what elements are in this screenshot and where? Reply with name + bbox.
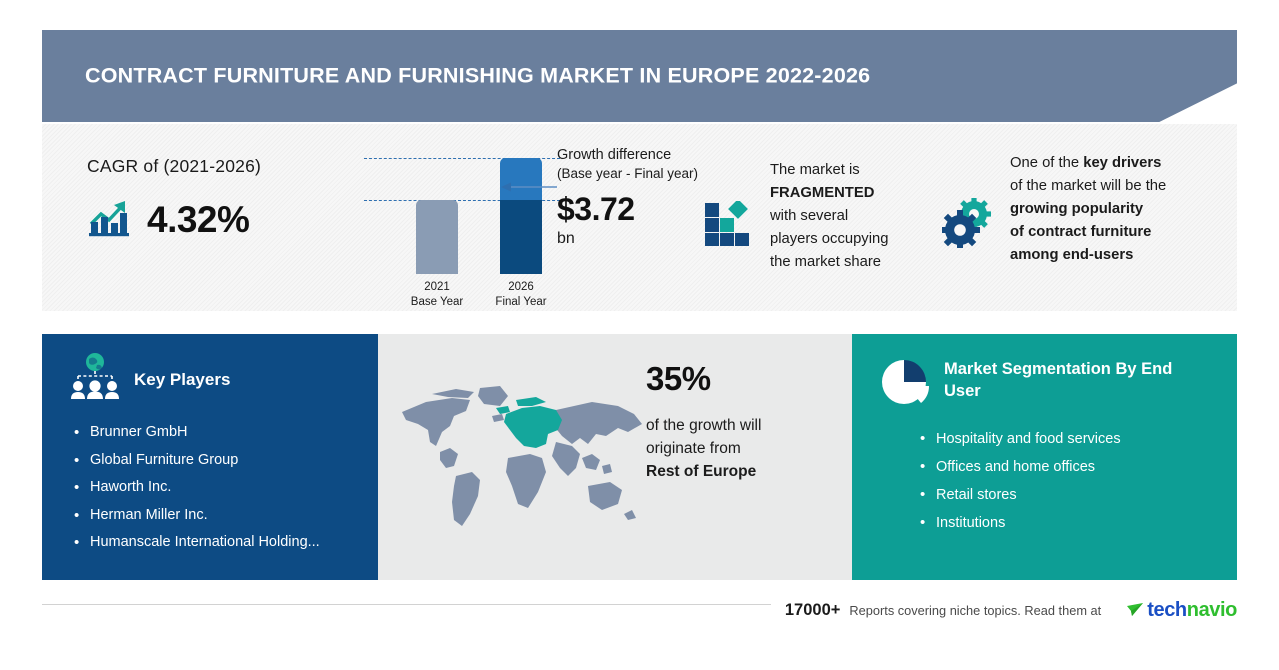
- region-growth-panel: 35% of the growth will originate from Re…: [378, 334, 852, 580]
- market-segmentation-panel: Market Segmentation By End User Hospital…: [852, 334, 1237, 580]
- list-item: Offices and home offices: [936, 453, 1237, 481]
- bar-2021-base-year: [416, 200, 458, 274]
- key-players-panel: Key Players Brunner GmbH Global Furnitur…: [42, 334, 378, 580]
- region-growth-text: 35% of the growth will originate from Re…: [646, 360, 836, 483]
- header-banner: CONTRACT FURNITURE AND FURNISHING MARKET…: [42, 30, 1237, 122]
- market-fragmentation-block: The market is FRAGMENTED with several pl…: [704, 159, 945, 274]
- bar-2026-final-year-growth: [500, 158, 542, 200]
- globe-network-people-icon: [68, 352, 122, 407]
- logo-text-tech: tech: [1147, 599, 1187, 621]
- drivers-line-1-bold: key drivers: [1083, 155, 1161, 171]
- key-drivers-block: One of the key drivers of the market wil…: [942, 152, 1223, 267]
- growth-bar-chart: 2021 Base Year 2026 Final Year: [364, 144, 564, 304]
- callout-arrow-icon: [501, 182, 557, 192]
- drivers-line-1: One of the: [1010, 155, 1083, 171]
- reports-count: 17000+: [785, 601, 841, 620]
- region-growth-description: of the growth will originate from Rest o…: [646, 414, 836, 483]
- region-growth-percent: 35%: [646, 360, 836, 398]
- footer-tagline: Reports covering niche topics. Read them…: [849, 603, 1101, 618]
- segmentation-list: Hospitality and food services Offices an…: [852, 425, 1237, 537]
- paper-plane-icon: [1126, 601, 1144, 619]
- drivers-line-3: growing popularity: [1010, 201, 1143, 217]
- technavio-logo[interactable]: technavio: [1126, 599, 1237, 622]
- bar-2026-final-year-base: [500, 200, 542, 274]
- fragmentation-text: The market is FRAGMENTED with several pl…: [770, 159, 945, 274]
- key-drivers-text: One of the key drivers of the market wil…: [1010, 152, 1223, 267]
- list-item: Retail stores: [936, 481, 1237, 509]
- region-desc-line-2: originate from: [646, 440, 741, 457]
- cagr-label: CAGR of (2021-2026): [87, 156, 377, 177]
- segmentation-title: Market Segmentation By End User: [944, 358, 1184, 402]
- footer: 17000+ Reports covering niche topics. Re…: [0, 592, 1279, 642]
- list-item: Brunner GmbH: [90, 419, 378, 447]
- frag-line-1: The market is: [770, 162, 860, 178]
- gears-icon: [942, 198, 998, 267]
- logo-text-navio: navio: [1187, 599, 1237, 621]
- squares-fragmented-icon: [704, 201, 756, 274]
- world-map-icon: [396, 380, 654, 532]
- drivers-line-4: of contract furniture: [1010, 224, 1151, 240]
- key-players-title: Key Players: [134, 370, 230, 390]
- list-item: Haworth Inc.: [90, 474, 378, 502]
- list-item: Institutions: [936, 509, 1237, 537]
- frag-line-4: players occupying: [770, 231, 888, 247]
- list-item: Hospitality and food services: [936, 425, 1237, 453]
- frag-line-2: FRAGMENTED: [770, 185, 874, 201]
- bar-label-2021: 2021 Base Year: [392, 280, 482, 309]
- region-desc-line-1: of the growth will: [646, 417, 761, 434]
- drivers-line-2: of the market will be the: [1010, 178, 1166, 194]
- pie-chart-icon: [880, 358, 930, 413]
- list-item: Global Furniture Group: [90, 447, 378, 475]
- top-highlights-strip: CAGR of (2021-2026) 4.32%: [42, 124, 1237, 311]
- bar-chart-growth-icon: [87, 197, 133, 242]
- infographic-canvas: CONTRACT FURNITURE AND FURNISHING MARKET…: [0, 0, 1279, 670]
- region-name: Rest of Europe: [646, 463, 756, 480]
- frag-line-5: the market share: [770, 254, 881, 270]
- panels-row: Key Players Brunner GmbH Global Furnitur…: [42, 334, 1237, 580]
- bar-label-2026: 2026 Final Year: [476, 280, 566, 309]
- list-item: Humanscale International Holding...: [90, 529, 378, 557]
- page-title: CONTRACT FURNITURE AND FURNISHING MARKET…: [85, 64, 870, 89]
- cagr-value: 4.32%: [147, 199, 249, 241]
- drivers-line-5: among end-users: [1010, 247, 1133, 263]
- frag-line-3: with several: [770, 208, 848, 224]
- list-item: Herman Miller Inc.: [90, 502, 378, 530]
- cagr-block: CAGR of (2021-2026) 4.32%: [87, 156, 377, 242]
- key-players-list: Brunner GmbH Global Furniture Group Hawo…: [42, 419, 378, 557]
